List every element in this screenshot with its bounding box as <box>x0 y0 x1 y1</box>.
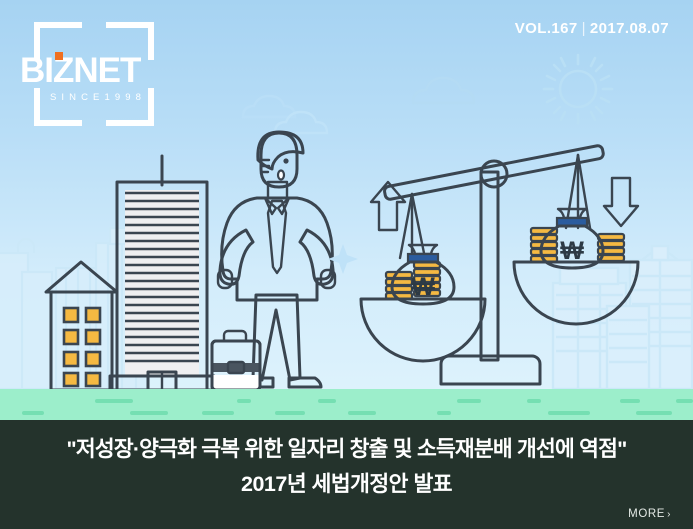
page-header: BIZNET SINCE1998 VOL.167|2017.08.07 <box>0 0 693 130</box>
banner-subheadline: 2017년 세법개정안 발표 <box>0 467 693 498</box>
volume-label: VOL.167 <box>515 20 578 37</box>
headline-banner: "저성장·양극화 극복 위한 일자리 창출 및 소득재분배 개선에 역점" 20… <box>0 420 693 529</box>
arrow-up-icon <box>371 182 405 230</box>
balance-scale-icon: ₩ ₩ <box>361 145 638 384</box>
logo-wordmark: BIZNET <box>20 52 168 90</box>
grass-strip <box>0 389 693 420</box>
more-label: MORE <box>628 508 665 520</box>
logo-tagline: SINCE1998 <box>24 92 172 103</box>
more-link[interactable]: MORE› <box>628 508 671 520</box>
biznet-logo[interactable]: BIZNET SINCE1998 <box>24 22 164 126</box>
svg-text:₩: ₩ <box>411 273 435 301</box>
meta-separator: | <box>582 20 586 37</box>
issue-meta: VOL.167|2017.08.07 <box>515 20 669 37</box>
businessman-icon <box>218 132 358 387</box>
chevron-right-icon: › <box>667 509 671 520</box>
apartment-building-icon <box>46 262 117 390</box>
issue-date: 2017.08.07 <box>590 20 669 37</box>
banner-headline: "저성장·양극화 극복 위한 일자리 창출 및 소득재분배 개선에 역점" <box>0 432 693 463</box>
arrow-down-icon <box>604 178 638 226</box>
logo-i-dot-icon <box>55 52 63 60</box>
newsletter-banner: .ol { stroke:#3a4550; stroke-width:3; fi… <box>0 0 693 529</box>
skyscraper-icon <box>110 156 214 390</box>
